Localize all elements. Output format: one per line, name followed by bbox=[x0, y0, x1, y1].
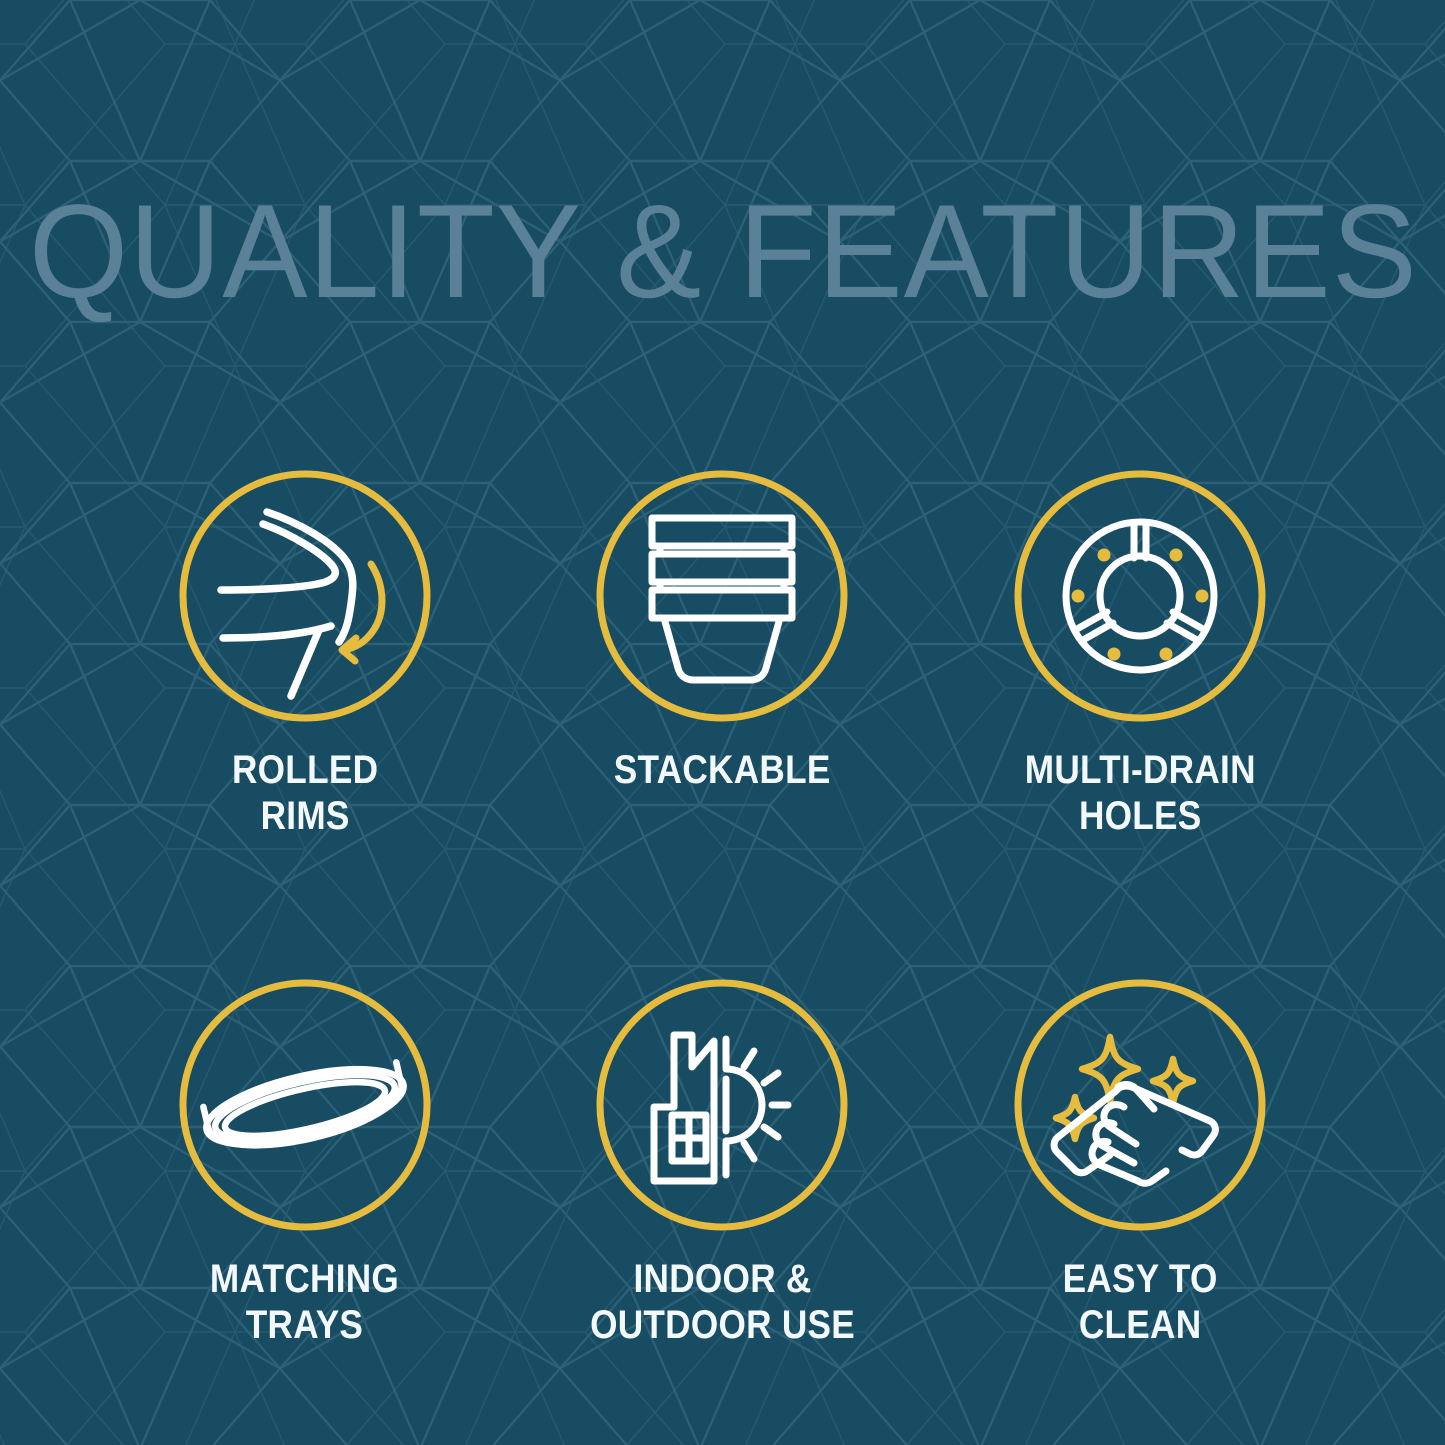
feature-rolled-rims[interactable]: ROLLED RIMS bbox=[96, 470, 514, 839]
feature-easy-to-clean[interactable]: EASY TO CLEAN bbox=[931, 979, 1349, 1348]
feature-label: EASY TO CLEAN bbox=[1063, 1257, 1218, 1348]
oval-tray-icon bbox=[179, 979, 431, 1231]
hand-wiping-cloth-sparkles-icon bbox=[1014, 979, 1266, 1231]
rolled-rim-cross-section-icon bbox=[179, 470, 431, 722]
feature-label: MULTI-DRAIN HOLES bbox=[1025, 748, 1256, 839]
stacked-pots-icon bbox=[596, 470, 848, 722]
feature-label: ROLLED RIMS bbox=[232, 748, 378, 839]
feature-label: INDOOR & OUTDOOR USE bbox=[590, 1257, 855, 1348]
feature-indoor-outdoor-use[interactable]: INDOOR & OUTDOOR USE bbox=[514, 979, 932, 1348]
feature-label: MATCHING TRAYS bbox=[210, 1257, 399, 1348]
feature-label: STACKABLE bbox=[614, 748, 831, 794]
features-grid: ROLLED RIMS bbox=[96, 470, 1349, 1348]
quality-features-panel: QUALITY & FEATURES bbox=[0, 0, 1445, 1445]
feature-matching-trays[interactable]: MATCHING TRAYS bbox=[96, 979, 514, 1348]
feature-multi-drain-holes[interactable]: MULTI-DRAIN HOLES bbox=[931, 470, 1349, 839]
house-and-sun-icon bbox=[596, 979, 848, 1231]
page-title: QUALITY & FEATURES bbox=[29, 186, 1416, 319]
pot-base-drain-holes-icon bbox=[1014, 470, 1266, 722]
feature-stackable[interactable]: STACKABLE bbox=[514, 470, 932, 839]
